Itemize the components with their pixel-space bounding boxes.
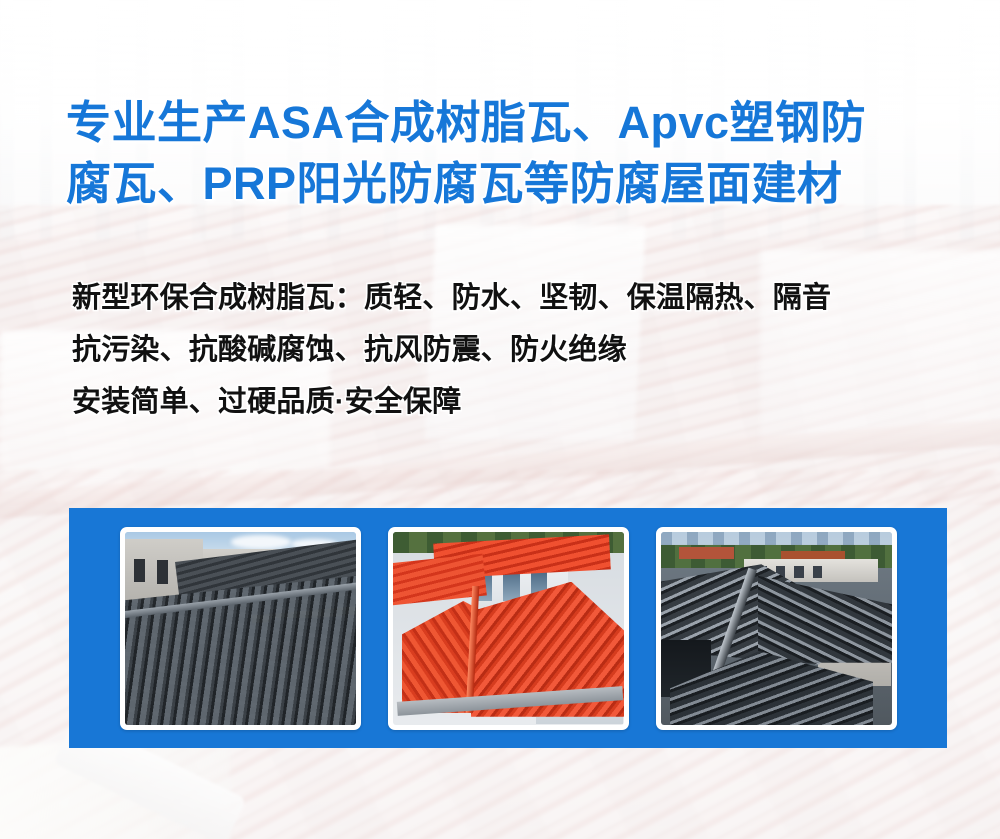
photo2-window-b	[503, 570, 519, 601]
photo3-window-c	[794, 566, 803, 578]
photo-grey-resin-tile-roof-courtyard	[125, 532, 356, 725]
photo3-village-roof-a	[679, 547, 734, 559]
subheadline: 新型环保合成树脂瓦：质轻、防水、坚韧、保温隔热、隔音 抗污染、抗酸碱腐蚀、抗风防…	[72, 272, 952, 428]
subheadline-line-1: 新型环保合成树脂瓦：质轻、防水、坚韧、保温隔热、隔音	[72, 272, 952, 324]
photo3-window-d	[813, 566, 822, 578]
subheadline-line-2: 抗污染、抗酸碱腐蚀、抗风防震、防火绝缘	[72, 324, 952, 376]
photo-gallery-panel	[69, 508, 947, 748]
photo1-window-a	[134, 559, 146, 582]
photo3-roof-right	[758, 570, 892, 663]
headline-line-1: 专业生产ASA合成树脂瓦、Apvc塑钢防	[66, 92, 946, 153]
headline-line-2: 腐瓦、PRP阳光防腐瓦等防腐屋面建材	[66, 153, 946, 214]
photo-red-resin-tile-roof-building	[393, 532, 624, 725]
product-banner: 专业生产ASA合成树脂瓦、Apvc塑钢防 腐瓦、PRP阳光防腐瓦等防腐屋面建材 …	[0, 0, 1000, 839]
headline: 专业生产ASA合成树脂瓦、Apvc塑钢防 腐瓦、PRP阳光防腐瓦等防腐屋面建材	[66, 92, 946, 214]
photo-frame-1[interactable]	[120, 527, 361, 730]
photo1-window-b	[157, 560, 169, 583]
subheadline-line-3: 安装简单、过硬品质·安全保障	[72, 376, 952, 428]
photo-dark-grey-resin-tile-roof-village	[661, 532, 892, 725]
photo1-cloud-a	[231, 535, 291, 549]
photo-frame-3[interactable]	[656, 527, 897, 730]
photo-frame-2[interactable]	[388, 527, 629, 730]
